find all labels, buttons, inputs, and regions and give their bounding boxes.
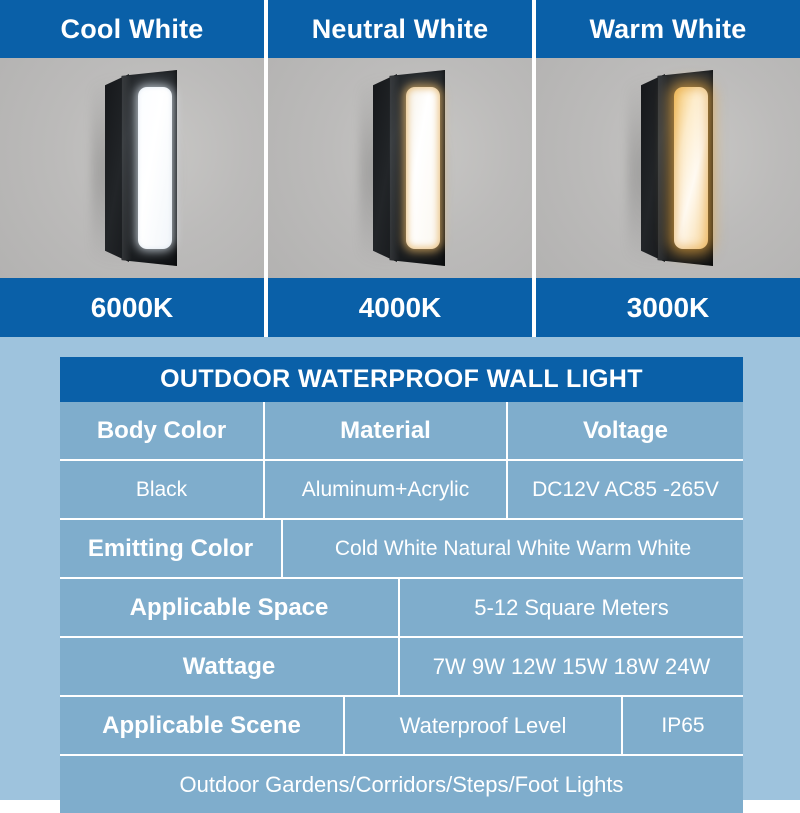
cell-applicable-space-label: Applicable Space: [60, 579, 400, 636]
panel-kelvin-neutral-white: 4000K: [268, 278, 532, 337]
cell-wattage-value: 7W 9W 12W 15W 18W 24W: [400, 638, 743, 695]
specification-section: OUTDOOR WATERPROOF WALL LIGHT Body Color…: [0, 337, 800, 800]
cell-emitting-color-value: Cold White Natural White Warm White: [283, 520, 743, 577]
cell-voltage-label: Voltage: [508, 402, 743, 459]
panel-kelvin-cool-white: 6000K: [0, 278, 264, 337]
product-panel-warm-white[interactable]: Warm White 3000K: [536, 0, 800, 337]
panel-kelvin-warm-white: 3000K: [536, 278, 800, 337]
product-photo-neutral-white: [268, 58, 532, 278]
cell-body-color-value: Black: [60, 461, 265, 518]
product-photo-warm-white: [536, 58, 800, 278]
table-row-applicable-space: Applicable Space 5-12 Square Meters: [60, 579, 743, 638]
table-row-header: Body Color Material Voltage: [60, 402, 743, 461]
cell-waterproof-level-label: Waterproof Level: [345, 697, 623, 754]
panel-title-warm-white: Warm White: [536, 0, 800, 58]
cell-waterproof-level-value: IP65: [623, 697, 743, 754]
cell-voltage-value: DC12V AC85 -265V: [508, 461, 743, 518]
cell-wattage-label: Wattage: [60, 638, 400, 695]
cell-material-label: Material: [265, 402, 508, 459]
specification-table: OUTDOOR WATERPROOF WALL LIGHT Body Color…: [60, 357, 743, 813]
cell-applicable-scene-label: Applicable Scene: [60, 697, 345, 754]
table-row-values: Black Aluminum+Acrylic DC12V AC85 -265V: [60, 461, 743, 520]
product-panel-neutral-white[interactable]: Neutral White 4000K: [268, 0, 532, 337]
table-row-wattage: Wattage 7W 9W 12W 15W 18W 24W: [60, 638, 743, 697]
product-panel-cool-white[interactable]: Cool White 6000K: [0, 0, 264, 337]
cell-scene-description-value: Outdoor Gardens/Corridors/Steps/Foot Lig…: [60, 756, 743, 813]
panel-title-neutral-white: Neutral White: [268, 0, 532, 58]
lamp-lens-neutral-white: [406, 87, 440, 249]
wall-lamp-icon: [373, 70, 445, 266]
cell-material-value: Aluminum+Acrylic: [265, 461, 508, 518]
table-row-emitting-color: Emitting Color Cold White Natural White …: [60, 520, 743, 579]
product-panels: Cool White 6000K Neutral White 4000K War…: [0, 0, 800, 337]
table-row-applicable-scene: Applicable Scene Waterproof Level IP65: [60, 697, 743, 756]
wall-lamp-icon: [641, 70, 713, 266]
wall-lamp-icon: [105, 70, 177, 266]
table-row-scene-description: Outdoor Gardens/Corridors/Steps/Foot Lig…: [60, 756, 743, 813]
cell-applicable-space-value: 5-12 Square Meters: [400, 579, 743, 636]
spec-table-title: OUTDOOR WATERPROOF WALL LIGHT: [60, 357, 743, 402]
product-photo-cool-white: [0, 58, 264, 278]
panel-title-cool-white: Cool White: [0, 0, 264, 58]
lamp-lens-warm-white: [674, 87, 708, 249]
cell-body-color-label: Body Color: [60, 402, 265, 459]
cell-emitting-color-label: Emitting Color: [60, 520, 283, 577]
lamp-lens-cool-white: [138, 87, 172, 249]
